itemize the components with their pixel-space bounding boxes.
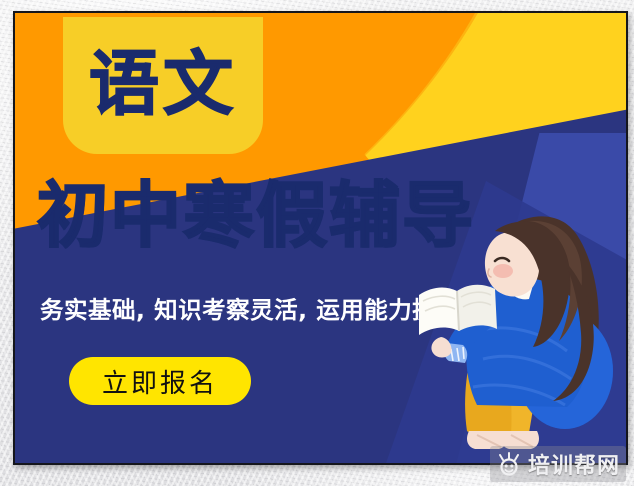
enroll-now-button[interactable]: 立即报名 bbox=[69, 357, 251, 405]
site-watermark: 培训帮网 bbox=[490, 446, 626, 482]
subject-badge-label: 语文 bbox=[89, 49, 237, 123]
girl-reading-book-icon bbox=[417, 191, 628, 461]
poster-subtitle: 务实基础, 知识考察灵活, 运用能力提升 bbox=[40, 296, 460, 325]
subject-badge: 语文 bbox=[63, 17, 263, 154]
page-background: 语文 初中寒假辅导 务实基础, 知识考察灵活, 运用能力提升 bbox=[0, 0, 634, 486]
sun-face-icon bbox=[496, 452, 522, 476]
course-promo-poster: 语文 初中寒假辅导 务实基础, 知识考察灵活, 运用能力提升 bbox=[13, 11, 628, 465]
watermark-label: 培训帮网 bbox=[528, 448, 620, 480]
